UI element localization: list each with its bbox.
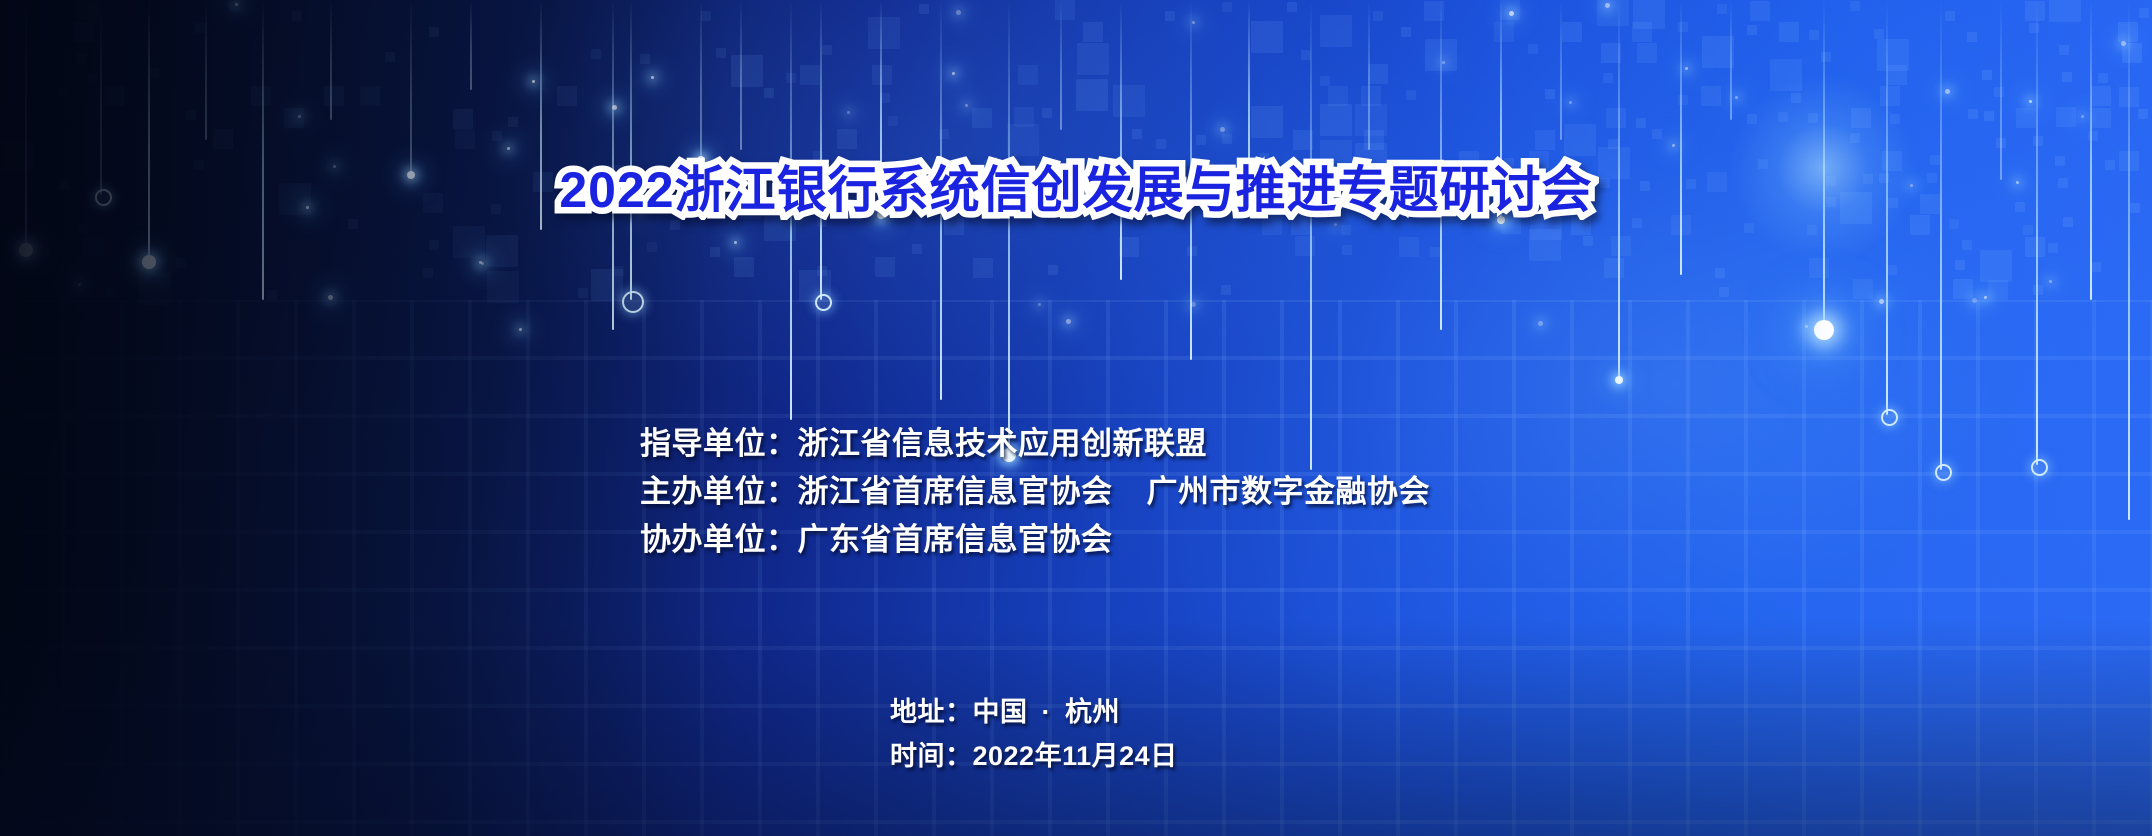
mosaic-square [939,129,949,139]
mosaic-square [1984,111,1994,121]
meta-value: 2022年11月24日 [973,741,1178,771]
sparkle-speck [1685,67,1688,70]
mosaic-square [1597,0,1629,26]
mosaic-square [2088,131,2098,141]
mosaic-square [267,290,277,300]
mosaic-square [1320,104,1352,136]
mosaic-square [557,86,577,106]
mosaic-square [1251,106,1283,138]
mosaic-square [176,258,186,268]
mosaic-square [1320,76,1330,86]
sparkle-speck [2049,280,2052,283]
mosaic-square [1874,29,1884,39]
mosaic-square [1791,93,1801,103]
mosaic-square [58,87,68,97]
sparkle-speck [2029,100,2032,103]
mosaic-square [2138,109,2148,119]
mosaic-square [1770,59,1802,91]
sparkle-speck [1672,144,1675,147]
mosaic-square [1222,134,1232,144]
mosaic-square [1778,112,1788,122]
sparkle-speck [328,295,333,300]
mosaic-square [888,116,898,126]
mosaic-square [1887,65,1907,85]
meta-row-time: 时间：2022年11月24日 [890,734,1178,778]
mosaic-square [1678,95,1688,105]
mosaic-square [1962,240,1972,250]
light-streak [148,0,150,262]
mosaic-square [1293,130,1313,150]
mosaic-square [731,55,763,87]
mosaic-square [1528,44,1538,54]
mosaic-square [1747,114,1757,124]
mosaic-square [1744,223,1754,233]
mosaic-square [2122,43,2142,63]
mosaic-square [2059,45,2069,55]
mosaic-square [2025,1,2045,21]
mosaic-square [2056,107,2076,127]
mosaic-square [1880,86,1900,106]
event-meta: 地址：中国·杭州 时间：2022年11月24日 [890,690,1178,778]
mosaic-square [1076,79,1108,111]
sparkle-speck [235,3,238,6]
light-streak [2036,0,2038,465]
sparkle-speck [481,262,484,265]
mosaic-square [2118,22,2138,42]
mosaic-square [1535,130,1555,150]
mosaic-square [186,110,196,120]
mosaic-square [912,244,922,254]
mosaic-square [1364,130,1384,150]
mosaic-square [1632,22,1652,42]
streak-end-ring [1881,409,1898,426]
mosaic-square [1342,245,1352,255]
mosaic-square [2091,86,2111,106]
organizer-label: 协办单位： [640,522,798,557]
light-streak [1120,0,1122,280]
mosaic-square [1606,108,1626,128]
mosaic-square [1809,258,1829,278]
streak-end-ring [622,291,644,313]
mosaic-square [423,268,433,278]
mosaic-square [647,242,657,252]
mosaic-square [2049,0,2081,22]
mosaic-square [292,11,302,21]
sparkle-speck [479,261,482,264]
organizer-value-secondary: 广州市数字金融协会 [1147,474,1431,509]
mosaic-square [1809,30,1819,40]
mosaic-square [83,237,103,257]
mosaic-square [972,108,992,128]
mosaic-square [360,86,380,106]
mosaic-square [1608,139,1618,149]
mosaic-square [1808,113,1818,123]
mosaic-square [453,109,473,129]
mosaic-square [139,273,171,305]
mosaic-square [1355,104,1387,136]
mosaic-square [2048,243,2058,253]
mosaic-square [455,129,475,149]
sparkle-speck [78,283,81,286]
mosaic-square [1500,0,1520,20]
mosaic-square [1132,129,1142,139]
event-banner: 2022浙江银行系统信创发展与推进专题研讨会 指导单位：浙江省信息技术应用创新联… [0,0,2152,836]
mosaic-square [1287,2,1297,12]
sparkle-speck [1066,319,1071,324]
mosaic-square [640,54,650,64]
mosaic-square [1851,108,1871,128]
mosaic-square [1967,32,1977,42]
mosaic-square [2025,237,2045,257]
sparkle-speck [532,80,535,83]
streak-end-bright-dot [1814,320,1834,340]
mosaic-square [1583,236,1593,246]
sparkle-speck [1735,96,1738,99]
mosaic-square [1807,225,1817,235]
sparkle-speck [1191,302,1196,307]
organizer-value: 广东省首席信息官协会 [798,522,1113,557]
mosaic-square [508,117,518,127]
sparkle-speck [1509,11,1514,16]
sparkle-speck [298,115,301,118]
mosaic-square [764,88,774,98]
mosaic-square [1747,25,1757,35]
organizer-row-host: 主办单位：浙江省首席信息官协会广州市数字金融协会 [640,468,1430,516]
sparkle-speck [519,328,522,331]
mosaic-square [1994,87,2004,97]
mosaic-square [1877,39,1909,71]
mosaic-square [1988,280,2008,300]
mosaic-square [1425,39,1457,71]
mosaic-square [868,17,900,49]
mosaic-square [1715,268,1725,278]
mosaic-square [1890,114,1900,124]
mosaic-square [875,257,895,277]
mosaic-square [79,1,99,21]
mosaic-square [2023,225,2033,235]
mosaic-square [1779,22,1799,42]
sparkle-speck [956,10,961,15]
sparkle-speck [1569,101,1572,104]
sparkle-speck [1220,127,1225,132]
mosaic-square [1750,1,1770,21]
mosaic-square [1221,285,1231,295]
sparkle-speck [2081,115,2084,118]
mosaic-square [1048,265,1058,275]
light-streak [1730,0,1732,120]
mosaic-square [2029,23,2039,33]
mosaic-square [1980,250,2012,282]
mosaic-square [385,52,395,62]
mosaic-square [1850,133,1860,143]
light-streak [470,0,472,90]
mosaic-square [973,258,993,278]
mosaic-square [1187,246,1197,256]
mosaic-square [2016,108,2036,128]
mosaic-square [1545,89,1555,99]
organizer-list: 指导单位：浙江省信息技术应用创新联盟 主办单位：浙江省首席信息官协会广州市数字金… [640,420,1430,564]
sparkle-speck [2121,41,2126,46]
mosaic-square [1562,22,1582,42]
mosaic-square [429,240,439,250]
mosaic-square [822,45,832,55]
mosaic-square [1850,1,1860,11]
mosaic-square [1301,50,1311,60]
mosaic-square [1222,2,1232,12]
mosaic-square [1719,287,1729,297]
mosaic-square [1945,11,1955,21]
mosaic-square [76,54,86,64]
light-streak [1008,0,1010,455]
mosaic-square [1717,4,1727,14]
mosaic-square [1636,118,1646,128]
mosaic-square [149,68,159,78]
mosaic-square [1982,70,1992,80]
organizer-value: 浙江省信息技术应用创新联盟 [798,426,1208,461]
mosaic-square [1156,139,1166,149]
mosaic-square [1494,22,1514,42]
mosaic-square [880,93,890,103]
streak-end-ring [815,294,832,311]
mosaic-square [2098,73,2108,83]
organizer-label: 主办单位： [640,474,798,509]
mosaic-square [701,11,711,21]
sparkle-speck [651,76,654,79]
light-streak [1560,0,1562,140]
mosaic-square [2119,87,2139,107]
mosaic-square [578,288,588,298]
mosaic-square [872,65,892,85]
organizer-row-cohost: 协办单位：广东省首席信息官协会 [640,516,1430,564]
sparkle-speck [965,104,968,107]
streak-end-dot [19,243,33,257]
meta-row-address: 地址：中国·杭州 [890,690,1178,734]
sparkle-speck [1945,89,1950,94]
sparkle-speck [1984,296,1987,299]
mosaic-square [2139,8,2149,18]
mosaic-square [1165,11,1175,21]
mosaic-square [324,86,344,106]
sparkle-speck [1038,303,1041,306]
sparkle-speck [1805,325,1808,328]
organizer-row-guidance: 指导单位：浙江省信息技术应用创新联盟 [640,420,1430,468]
page-title: 2022浙江银行系统信创发展与推进专题研讨会 [0,150,2152,222]
mosaic-square [1968,109,1978,119]
mosaic-square [591,49,601,59]
mosaic-square [1955,260,1965,270]
sparkle-speck [1538,321,1543,326]
mosaic-square [1295,236,1315,256]
mosaic-square [195,23,205,33]
sparkle-speck [1192,21,1195,24]
light-streak [1060,0,1062,130]
mosaic-square [1119,237,1139,257]
mosaic-square [1529,229,1561,261]
mosaic-square [2033,285,2043,295]
mosaic-square [486,235,518,267]
mosaic-square [734,257,754,277]
mosaic-square [2091,262,2101,272]
mosaic-square [1341,225,1351,235]
mosaic-square [1611,236,1631,256]
mosaic-square [1328,86,1348,106]
mosaic-square [1702,36,1734,68]
streak-end-dot [1615,376,1623,384]
light-streak [330,0,332,120]
mosaic-square [1701,86,1721,106]
mosaic-square [786,73,796,83]
mosaic-square [919,4,929,14]
sparkle-speck [734,241,737,244]
meta-label: 时间： [890,741,973,771]
mosaic-square [1399,237,1419,257]
light-streak [740,0,742,150]
mosaic-square [1361,86,1381,106]
mosaic-square [251,86,271,106]
streak-end-ring [2031,459,2048,476]
mosaic-square [1196,135,1206,145]
mosaic-square [104,86,124,106]
mosaic-square [74,22,94,42]
streak-end-ring [1935,464,1952,481]
mosaic-square [1887,265,1897,275]
mosaic-square [799,270,831,302]
mosaic-square [2033,136,2043,146]
mosaic-square [1018,65,1038,85]
mosaic-square [1604,258,1624,278]
mosaic-square [837,129,857,149]
sparkle-speck [1879,299,1884,304]
mosaic-square [453,226,485,258]
mosaic-square [1251,21,1283,53]
sparkle-speck [1442,61,1445,64]
mosaic-square [817,266,827,276]
organizer-value: 浙江省首席信息官协会 [798,474,1113,509]
mosaic-square [710,247,720,257]
mosaic-square [284,108,304,128]
mosaic-square [1637,43,1657,63]
mosaic-square [429,27,439,37]
mosaic-square [800,65,820,85]
light-streak [1368,0,1370,150]
sparkle-speck [612,105,617,110]
light-streak [1680,0,1682,275]
mosaic-square [1042,108,1052,118]
light-streak [2128,0,2130,520]
light-streak [1310,0,1312,470]
mosaic-square [1077,43,1109,75]
mosaic-square [591,269,623,301]
light-streak [205,0,207,140]
mosaic-square [716,48,726,58]
mosaic-square [614,266,624,276]
mosaic-square [1821,52,1831,62]
mosaic-square [1014,107,1034,127]
mosaic-square [1996,138,2006,148]
mosaic-square [1055,0,1075,20]
mosaic-square [2062,72,2072,82]
light-streak [700,0,702,160]
mosaic-square [487,271,519,303]
meta-label: 地址： [890,697,973,727]
mosaic-square [1633,0,1665,29]
mosaic-square [1853,279,1873,299]
mosaic-square [88,73,98,83]
mosaic-square [213,129,233,149]
sparkle-speck [952,72,955,75]
mosaic-square [1320,15,1352,47]
sparkle-speck [1334,223,1337,226]
meta-separator: · [1042,697,1052,727]
mosaic-square [1430,247,1440,257]
sparkle-speck [1605,3,1610,8]
mosaic-square [1083,22,1103,42]
mosaic-square [2091,108,2111,128]
mosaic-square [78,223,88,233]
sparkle-speck [847,111,850,114]
meta-value-city: 杭州 [1065,697,1120,727]
mosaic-square [1601,43,1621,63]
light-streak [1940,0,1942,470]
mosaic-square [106,286,116,296]
meta-value: 中国 [973,697,1028,727]
organizer-label: 指导单位： [640,426,798,461]
mosaic-square [1652,129,1662,139]
mosaic-square [1424,1,1444,21]
mosaic-square [1953,279,1973,299]
mosaic-square [1406,90,1416,100]
mosaic-square [1373,11,1383,21]
mosaic-square [229,1,239,11]
mosaic-square [1113,85,1145,117]
light-streak [410,0,412,175]
sparkle-speck [1972,298,1977,303]
mosaic-square [1678,22,1688,32]
mosaic-square [1401,27,1411,37]
mosaic-square [1368,64,1388,84]
mosaic-square [1603,73,1613,83]
streak-end-dot [142,255,156,269]
mosaic-square [492,131,502,141]
